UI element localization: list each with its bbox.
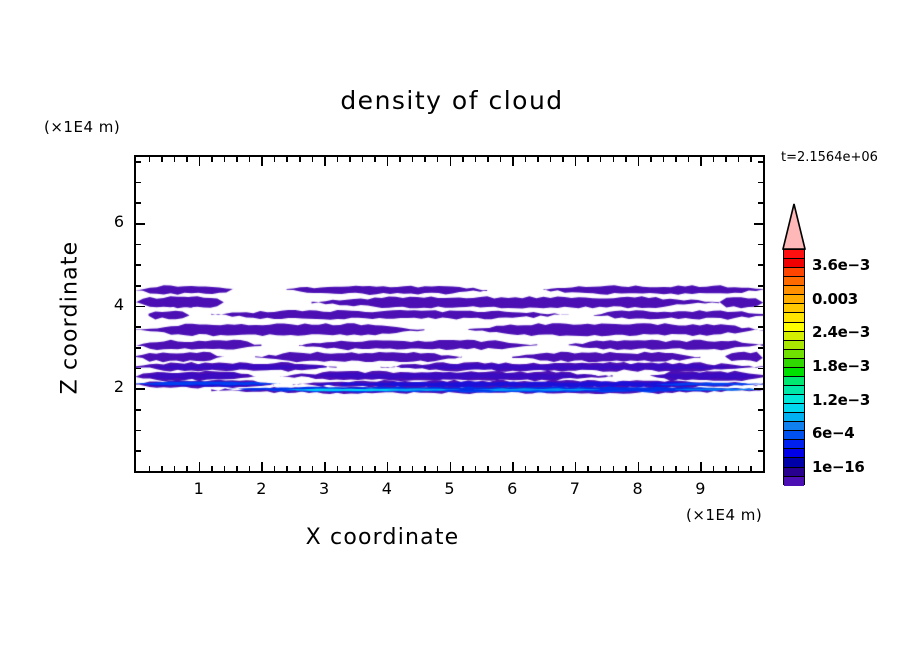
- x-minor-tick-top: [688, 157, 690, 162]
- colorbar-segment: [784, 413, 804, 422]
- colorbar-tick-label: 3.6e−3: [812, 256, 870, 274]
- y-minor-tick-right: [758, 244, 763, 246]
- x-minor-tick: [500, 466, 502, 471]
- chart-title: density of cloud: [0, 86, 904, 115]
- colorbar-tick-label: 1.8e−3: [812, 357, 870, 375]
- x-minor-tick-top: [337, 157, 339, 162]
- y-minor-tick: [136, 368, 141, 370]
- colorbar-segment: [784, 359, 804, 368]
- x-tick-label: 7: [560, 479, 590, 498]
- x-major-tick: [512, 462, 514, 471]
- x-tick-label: 1: [184, 479, 214, 498]
- colorbar-tick-label: 0.003: [812, 290, 858, 308]
- x-minor-tick: [663, 466, 665, 471]
- y-minor-tick: [136, 430, 141, 432]
- x-major-tick-top: [387, 157, 389, 166]
- y-minor-tick: [136, 202, 141, 204]
- contour-plot-canvas: [136, 157, 763, 471]
- colorbar-segment: [784, 277, 804, 286]
- y-minor-tick-right: [758, 368, 763, 370]
- x-minor-tick: [337, 466, 339, 471]
- y-minor-tick-right: [758, 264, 763, 266]
- colorbar-segment: [784, 332, 804, 341]
- x-minor-tick: [161, 466, 163, 471]
- colorbar-segment: [784, 250, 804, 259]
- y-tick-label: 6: [94, 212, 124, 231]
- x-major-tick-top: [324, 157, 326, 166]
- x-minor-tick: [537, 466, 539, 471]
- x-major-tick-top: [575, 157, 577, 166]
- x-minor-tick-top: [600, 157, 602, 162]
- colorbar-segment: [784, 440, 804, 449]
- y-minor-tick-right: [758, 202, 763, 204]
- x-tick-label: 9: [685, 479, 715, 498]
- x-minor-tick-top: [650, 157, 652, 162]
- x-minor-tick: [424, 466, 426, 471]
- x-minor-tick-top: [161, 157, 163, 162]
- y-minor-tick-right: [758, 326, 763, 328]
- x-minor-tick-top: [149, 157, 151, 162]
- colorbar-segment: [784, 259, 804, 268]
- y-minor-tick-right: [758, 161, 763, 163]
- x-major-tick: [261, 462, 263, 471]
- x-major-tick-top: [512, 157, 514, 166]
- colorbar-tick-label: 2.4e−3: [812, 323, 870, 341]
- x-axis-unit-label: (×1E4 m): [686, 506, 762, 524]
- x-minor-tick-top: [412, 157, 414, 162]
- y-tick-label: 2: [94, 377, 124, 396]
- x-major-tick: [575, 462, 577, 471]
- x-major-tick-top: [261, 157, 263, 166]
- colorbar-segment: [784, 341, 804, 350]
- x-minor-tick-top: [224, 157, 226, 162]
- colorbar-segment: [784, 377, 804, 386]
- x-axis-title: X coordinate: [0, 525, 765, 550]
- y-minor-tick-right: [758, 347, 763, 349]
- y-minor-tick: [136, 326, 141, 328]
- colorbar-segment: [784, 431, 804, 440]
- colorbar-segment: [784, 304, 804, 313]
- x-minor-tick-top: [399, 157, 401, 162]
- x-major-tick: [324, 462, 326, 471]
- x-minor-tick: [675, 466, 677, 471]
- x-minor-tick-top: [349, 157, 351, 162]
- x-minor-tick-top: [374, 157, 376, 162]
- x-minor-tick-top: [738, 157, 740, 162]
- x-minor-tick-top: [562, 157, 564, 162]
- x-minor-tick-top: [174, 157, 176, 162]
- y-minor-tick: [136, 244, 141, 246]
- x-major-tick-top: [199, 157, 201, 166]
- x-tick-label: 5: [435, 479, 465, 498]
- x-minor-tick: [312, 466, 314, 471]
- colorbar-segment: [784, 477, 804, 486]
- y-minor-tick-right: [758, 430, 763, 432]
- colorbar-segment: [784, 422, 804, 431]
- y-minor-tick: [136, 285, 141, 287]
- y-major-tick: [136, 306, 145, 308]
- x-minor-tick-top: [312, 157, 314, 162]
- x-minor-tick-top: [211, 157, 213, 162]
- colorbar-segment: [784, 350, 804, 359]
- y-minor-tick: [136, 347, 141, 349]
- y-minor-tick-right: [758, 285, 763, 287]
- plot-area: [134, 155, 765, 473]
- y-major-tick-right: [754, 388, 763, 390]
- colorbar-segment: [784, 368, 804, 377]
- x-minor-tick: [525, 466, 527, 471]
- y-minor-tick: [136, 450, 141, 452]
- y-minor-tick-right: [758, 409, 763, 411]
- figure-root: density of cloud (×1E4 m) (×1E4 m) t=2.1…: [0, 0, 904, 654]
- colorbar-segment: [784, 386, 804, 395]
- x-minor-tick-top: [550, 157, 552, 162]
- x-minor-tick-top: [487, 157, 489, 162]
- colorbar-arrow-head: [781, 203, 807, 250]
- x-minor-tick: [625, 466, 627, 471]
- colorbar-segment: [784, 268, 804, 277]
- y-major-tick: [136, 388, 145, 390]
- x-minor-tick-top: [625, 157, 627, 162]
- colorbar-tick-label: 6e−4: [812, 424, 854, 442]
- x-minor-tick-top: [362, 157, 364, 162]
- x-major-tick-top: [450, 157, 452, 166]
- x-minor-tick: [613, 466, 615, 471]
- colorbar-tick-label: 1.2e−3: [812, 391, 870, 409]
- colorbar-tick-label: 1e−16: [812, 458, 865, 476]
- x-minor-tick: [650, 466, 652, 471]
- x-tick-label: 4: [372, 479, 402, 498]
- y-axis-title: Z coordinate: [58, 218, 83, 418]
- x-minor-tick-top: [525, 157, 527, 162]
- y-minor-tick-right: [758, 450, 763, 452]
- x-minor-tick-top: [186, 157, 188, 162]
- x-minor-tick: [399, 466, 401, 471]
- x-minor-tick: [487, 466, 489, 471]
- x-tick-label: 2: [246, 479, 276, 498]
- colorbar: [781, 203, 807, 485]
- x-minor-tick: [286, 466, 288, 471]
- x-minor-tick: [186, 466, 188, 471]
- x-minor-tick-top: [462, 157, 464, 162]
- x-minor-tick: [738, 466, 740, 471]
- x-minor-tick: [149, 466, 151, 471]
- x-minor-tick: [475, 466, 477, 471]
- x-minor-tick: [174, 466, 176, 471]
- x-minor-tick-top: [537, 157, 539, 162]
- x-minor-tick-top: [475, 157, 477, 162]
- x-minor-tick: [750, 466, 752, 471]
- y-major-tick-right: [754, 306, 763, 308]
- x-minor-tick: [224, 466, 226, 471]
- x-tick-label: 8: [623, 479, 653, 498]
- x-minor-tick: [362, 466, 364, 471]
- y-minor-tick: [136, 182, 141, 184]
- x-minor-tick-top: [274, 157, 276, 162]
- x-minor-tick-top: [675, 157, 677, 162]
- x-minor-tick: [349, 466, 351, 471]
- x-minor-tick: [412, 466, 414, 471]
- x-minor-tick-top: [663, 157, 665, 162]
- x-major-tick: [199, 462, 201, 471]
- x-major-tick-top: [700, 157, 702, 166]
- colorbar-segment: [784, 395, 804, 404]
- x-minor-tick-top: [437, 157, 439, 162]
- x-minor-tick: [437, 466, 439, 471]
- x-minor-tick: [600, 466, 602, 471]
- y-minor-tick: [136, 409, 141, 411]
- colorbar-segment: [784, 295, 804, 304]
- x-minor-tick-top: [424, 157, 426, 162]
- y-minor-tick: [136, 264, 141, 266]
- x-minor-tick: [562, 466, 564, 471]
- colorbar-segments: [783, 249, 805, 485]
- x-tick-label: 3: [309, 479, 339, 498]
- x-minor-tick-top: [286, 157, 288, 162]
- colorbar-segment: [784, 323, 804, 332]
- x-minor-tick: [725, 466, 727, 471]
- x-minor-tick: [274, 466, 276, 471]
- x-minor-tick-top: [249, 157, 251, 162]
- x-minor-tick-top: [587, 157, 589, 162]
- x-minor-tick-top: [713, 157, 715, 162]
- x-minor-tick: [249, 466, 251, 471]
- x-minor-tick-top: [725, 157, 727, 162]
- colorbar-segment: [784, 458, 804, 467]
- colorbar-segment: [784, 468, 804, 477]
- x-minor-tick: [211, 466, 213, 471]
- x-tick-label: 6: [497, 479, 527, 498]
- x-minor-tick-top: [299, 157, 301, 162]
- x-minor-tick: [713, 466, 715, 471]
- x-major-tick: [700, 462, 702, 471]
- x-minor-tick: [587, 466, 589, 471]
- x-major-tick: [638, 462, 640, 471]
- x-minor-tick-top: [750, 157, 752, 162]
- y-major-tick: [136, 223, 145, 225]
- x-minor-tick-top: [613, 157, 615, 162]
- y-minor-tick-right: [758, 182, 763, 184]
- colorbar-segment: [784, 449, 804, 458]
- x-minor-tick-top: [236, 157, 238, 162]
- colorbar-segment: [784, 286, 804, 295]
- y-tick-label: 4: [94, 295, 124, 314]
- y-minor-tick: [136, 161, 141, 163]
- x-major-tick: [450, 462, 452, 471]
- colorbar-segment: [784, 404, 804, 413]
- x-major-tick: [387, 462, 389, 471]
- x-minor-tick: [688, 466, 690, 471]
- y-major-tick-right: [754, 223, 763, 225]
- x-minor-tick-top: [500, 157, 502, 162]
- x-minor-tick: [236, 466, 238, 471]
- x-minor-tick: [462, 466, 464, 471]
- x-minor-tick: [550, 466, 552, 471]
- time-stamp-label: t=2.1564e+06: [781, 150, 878, 165]
- x-minor-tick: [374, 466, 376, 471]
- colorbar-segment: [784, 313, 804, 322]
- x-minor-tick: [299, 466, 301, 471]
- x-major-tick-top: [638, 157, 640, 166]
- y-axis-unit-label: (×1E4 m): [44, 118, 120, 136]
